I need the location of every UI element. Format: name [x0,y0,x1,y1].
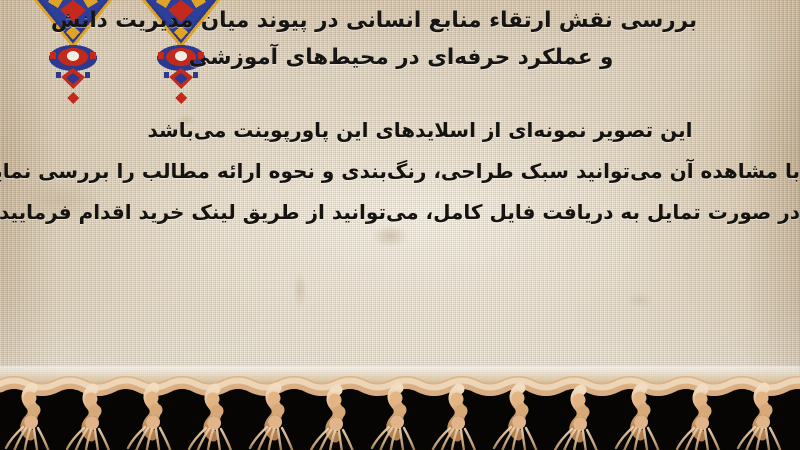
body-line-3: در صورت تمایل به دریافت فایل کامل، می‌تو… [0,192,800,233]
carpet-fringe [0,360,800,450]
slide-title: بررسی نقش ارتقاء منابع انسانی در پیوند م… [16,2,786,76]
body-line-2: با مشاهده آن می‌توانید سبک طراحی، رنگ‌بن… [0,151,800,192]
title-line-1: بررسی نقش ارتقاء منابع انسانی در پیوند م… [16,2,786,39]
slide-canvas: بررسی نقش ارتقاء منابع انسانی در پیوند م… [0,0,800,450]
slide-body: این تصویر نمونه‌ای از اسلایدهای این پاور… [0,110,800,233]
title-line-2: و عملکرد حرفه‌ای در محیط‌های آموزشی [16,39,786,76]
body-line-1: این تصویر نمونه‌ای از اسلایدهای این پاور… [0,110,800,151]
